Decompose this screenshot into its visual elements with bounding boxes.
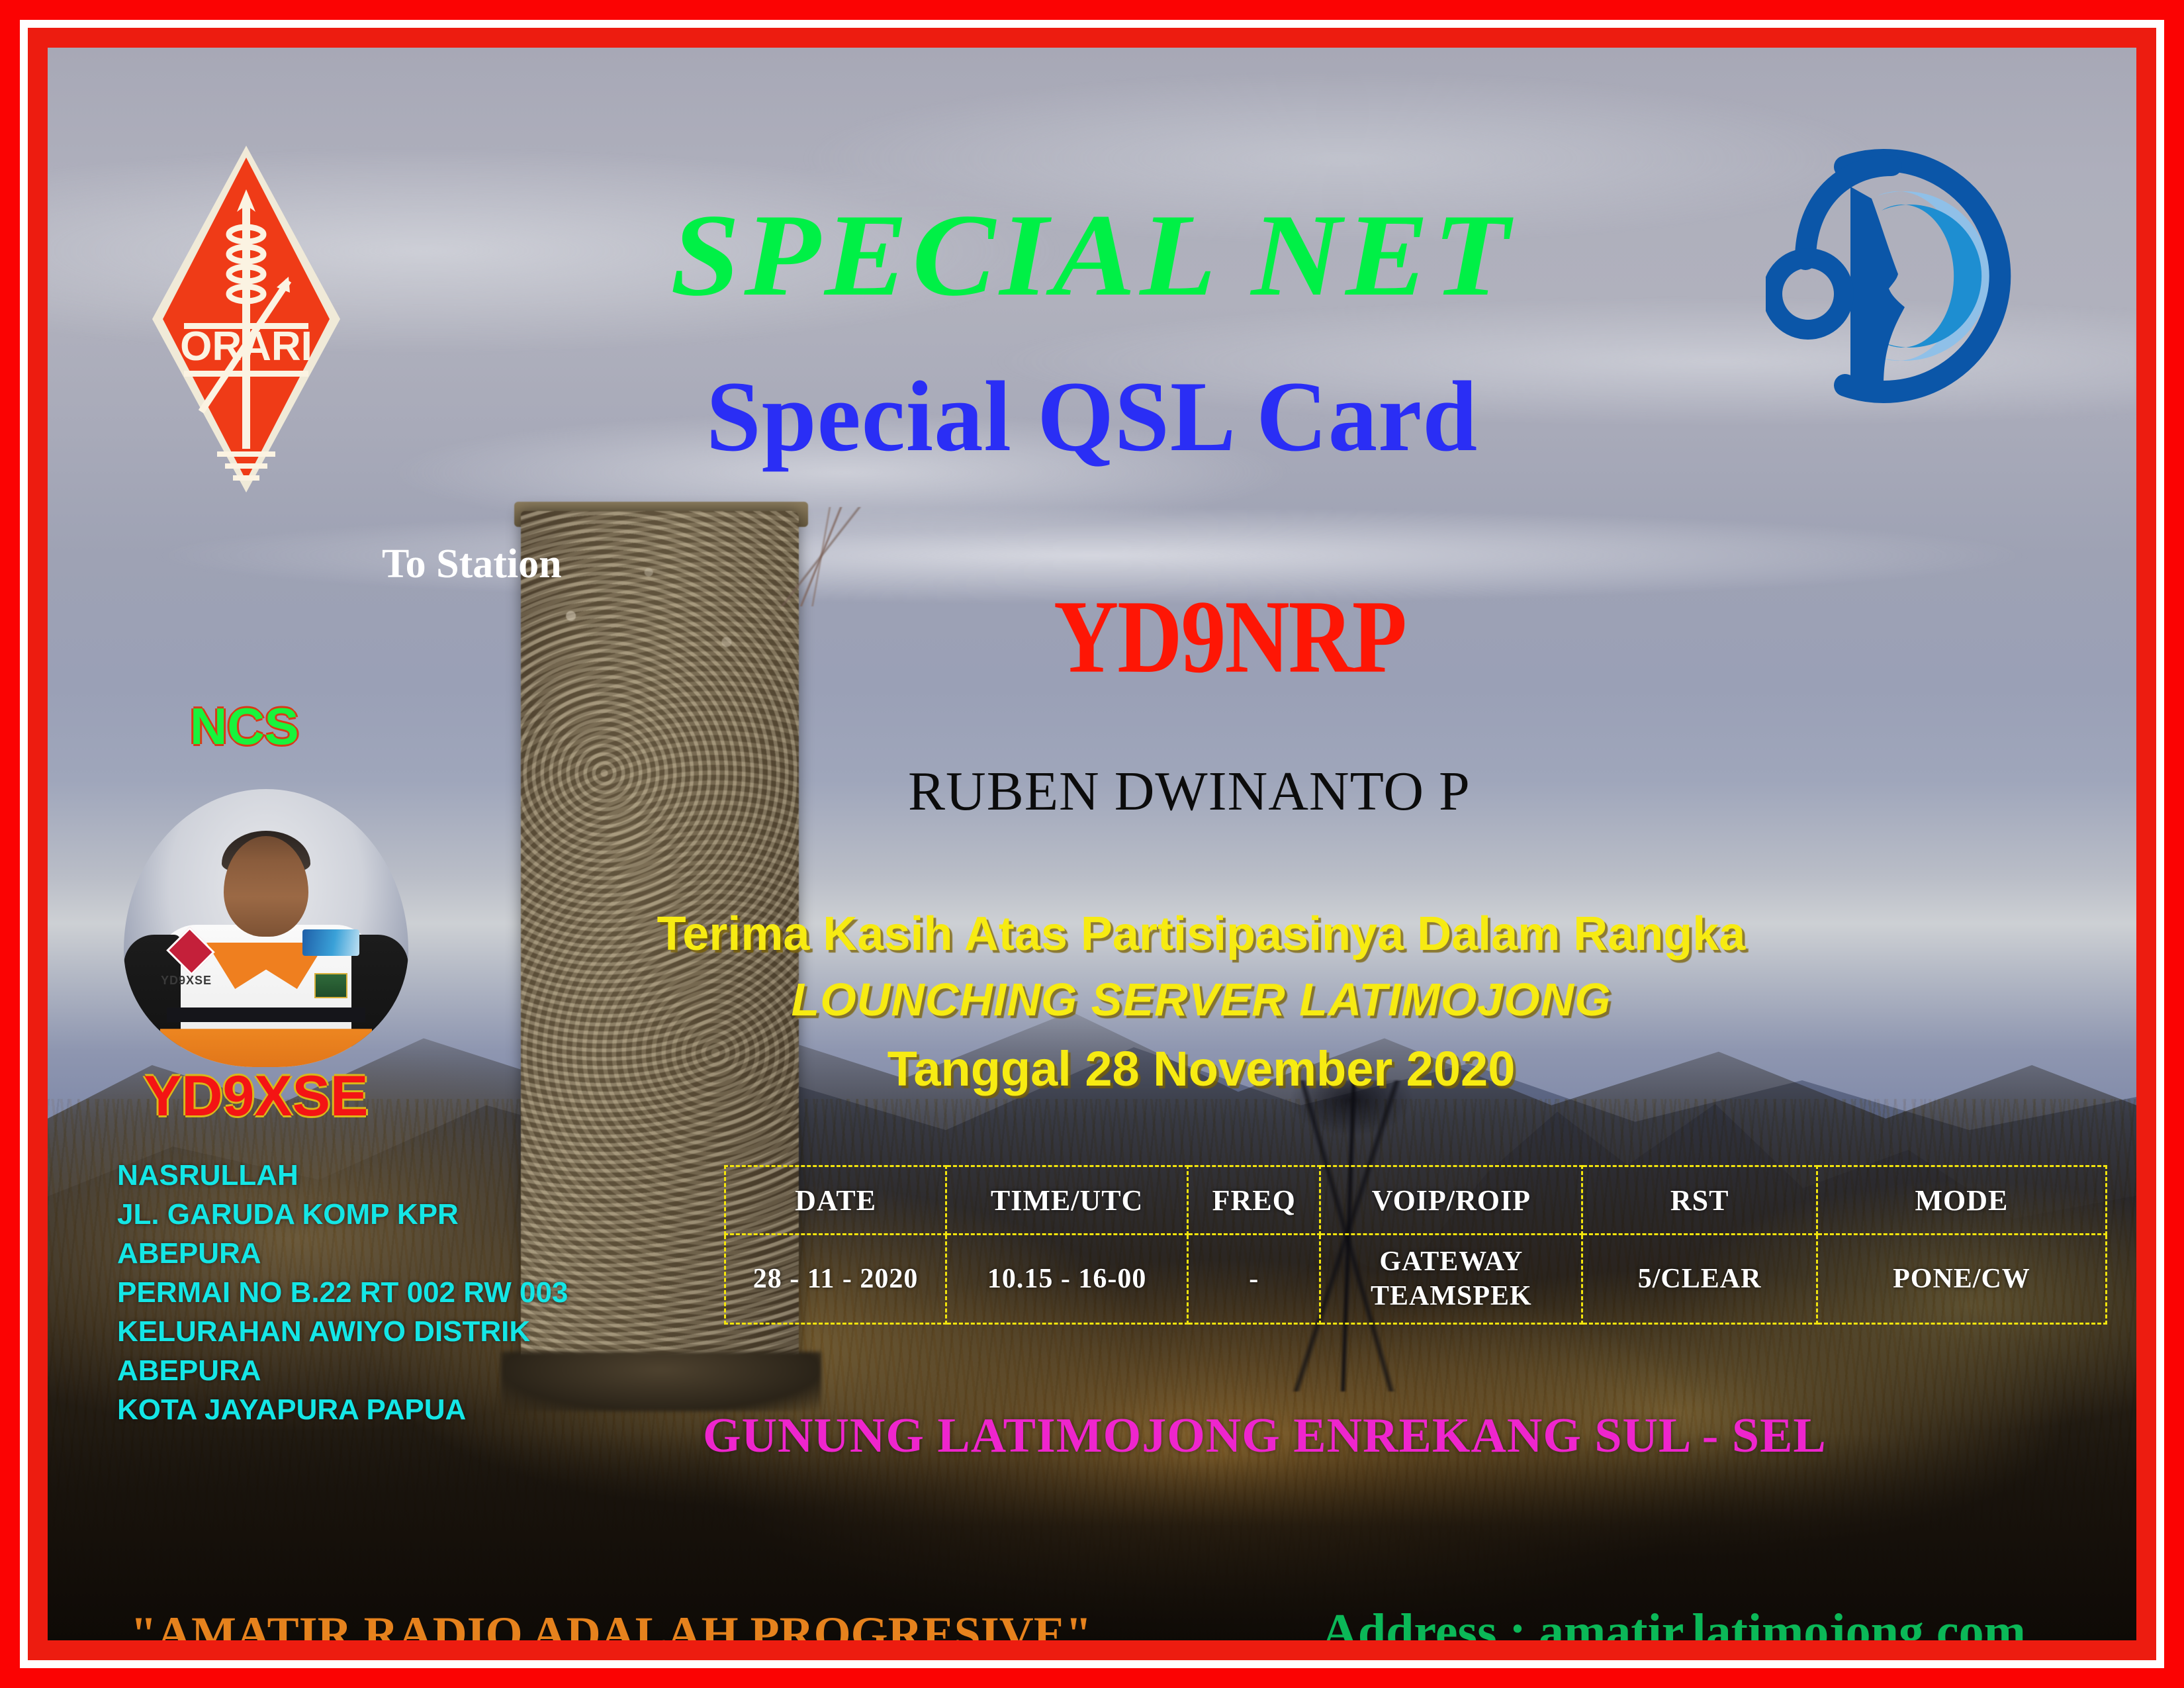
event-title-line: LOUNCHING SERVER LATIMOJONG xyxy=(48,973,2136,1026)
column-header-voip: VOIP/ROIP xyxy=(1320,1166,1582,1235)
column-header-date: DATE xyxy=(725,1166,946,1235)
column-header-rst: RST xyxy=(1582,1166,1817,1235)
cell-freq: - xyxy=(1188,1235,1320,1324)
card-photo-area: ORARI xyxy=(48,48,2136,1640)
ncs-label: NCS xyxy=(190,696,299,757)
cell-voip: GATEWAY TEAMSPEK xyxy=(1320,1235,1582,1324)
address-line: KOTA JAYAPURA PAPUA xyxy=(117,1391,568,1430)
address-line: ABEPURA xyxy=(117,1352,568,1391)
pillar-wires xyxy=(766,507,878,606)
to-station-label: To Station xyxy=(382,541,562,588)
recipient-callsign: YD9NRP xyxy=(1054,577,1406,697)
page-subtitle-special-qsl-card: Special QSL Card xyxy=(69,359,2116,474)
cell-rst: 5/CLEAR xyxy=(1582,1235,1817,1324)
cell-date: 28 - 11 - 2020 xyxy=(725,1235,946,1324)
table-row: 28 - 11 - 2020 10.15 - 16-00 - GATEWAY T… xyxy=(725,1235,2107,1324)
column-header-freq: FREQ xyxy=(1188,1166,1320,1235)
qsl-card: ORARI xyxy=(0,0,2184,1688)
contact-address: Address : amatir.latimojong.com xyxy=(1322,1603,2026,1640)
address-line: ABEPURA xyxy=(117,1235,568,1274)
address-line: KELURAHAN AWIYO DISTRIK xyxy=(117,1313,568,1352)
recipient-operator-name: RUBEN DWINANTO P xyxy=(908,759,1471,823)
cell-mode: PONE/CW xyxy=(1817,1235,2106,1324)
event-date-line: Tanggal 28 November 2020 xyxy=(48,1041,2136,1097)
address-line: NASRULLAH xyxy=(117,1156,568,1196)
table-header-row: DATE TIME/UTC FREQ VOIP/ROIP RST MODE xyxy=(725,1166,2107,1235)
page-title-special-net: SPECIAL NET xyxy=(48,187,2136,323)
column-header-time: TIME/UTC xyxy=(946,1166,1188,1235)
event-thanks-line: Terima Kasih Atas Partisipasinya Dalam R… xyxy=(48,907,2136,961)
address-line: PERMAI NO B.22 RT 002 RW 003 xyxy=(117,1274,568,1313)
qso-log-table: DATE TIME/UTC FREQ VOIP/ROIP RST MODE 28… xyxy=(724,1165,2107,1325)
sender-address-block: NASRULLAH JL. GARUDA KOMP KPR ABEPURA PE… xyxy=(117,1156,568,1430)
column-header-mode: MODE xyxy=(1817,1166,2106,1235)
cell-time: 10.15 - 16-00 xyxy=(946,1235,1188,1324)
address-line: JL. GARUDA KOMP KPR xyxy=(117,1196,568,1235)
club-motto: "AMATIR RADIO ADALAH PROGRESIVE" xyxy=(130,1607,1092,1640)
event-location: GUNUNG LATIMOJONG ENREKANG SUL - SEL xyxy=(703,1408,1827,1464)
